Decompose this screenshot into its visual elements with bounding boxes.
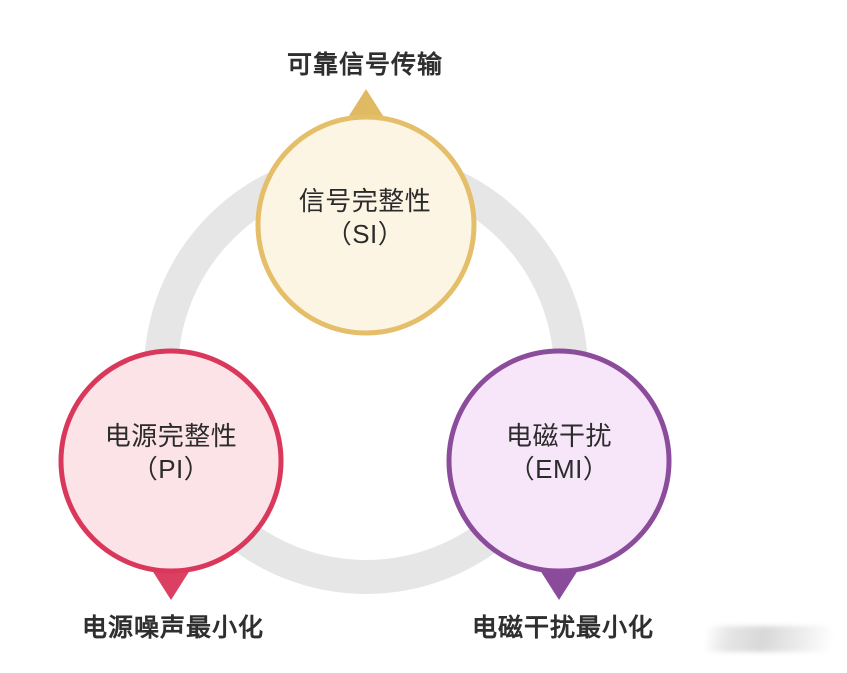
watermark-smudge	[706, 626, 832, 652]
caption-reliable-signal-transmission: 可靠信号传输	[240, 45, 490, 81]
caption-minimize-power-noise: 电源噪声最小化	[48, 608, 298, 644]
node-circle-emi[interactable]	[449, 351, 669, 571]
caption-minimize-emi: 电磁干扰最小化	[438, 608, 688, 644]
node-circle-pi[interactable]	[61, 351, 281, 571]
diagram-canvas: 信号完整性 （SI） 电源完整性 （PI） 电磁干扰 （EMI） 可靠信号传输 …	[0, 0, 847, 673]
node-circle-si[interactable]	[258, 117, 474, 333]
diagram-graphics	[0, 0, 847, 673]
